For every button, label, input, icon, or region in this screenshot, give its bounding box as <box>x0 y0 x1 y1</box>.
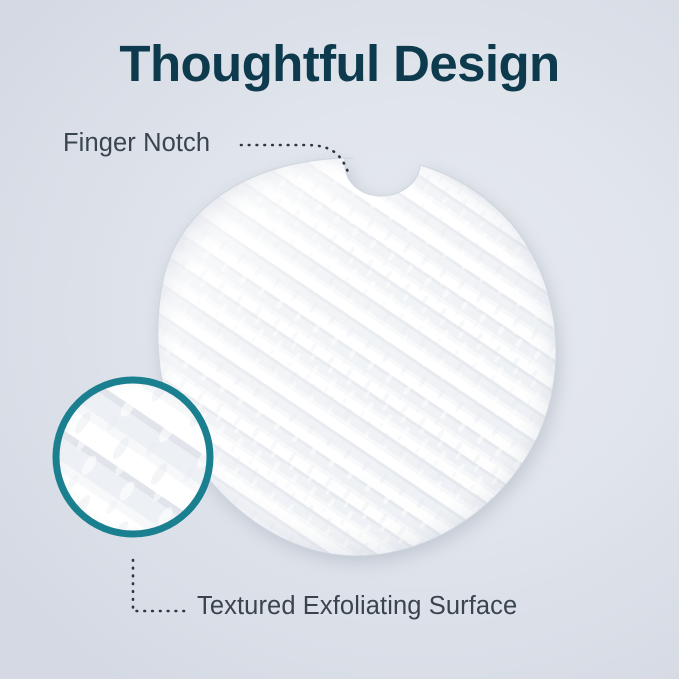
infographic-canvas: Thoughtful Design <box>0 0 679 679</box>
magnifier-content <box>50 374 220 544</box>
texture-magnifier[interactable] <box>0 0 679 679</box>
